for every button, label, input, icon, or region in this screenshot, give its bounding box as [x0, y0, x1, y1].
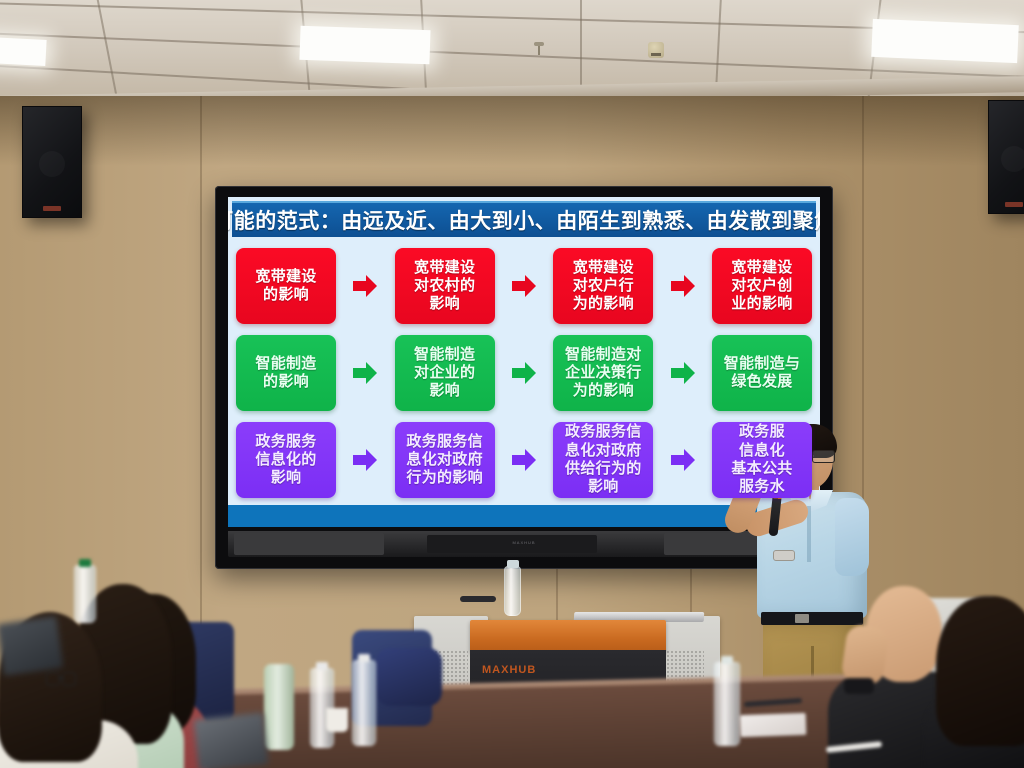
ceiling-light-panel — [299, 26, 430, 65]
flow-box[interactable]: 政务服务信 息化对政府 行为的影响 — [395, 422, 495, 498]
paper-cup[interactable] — [326, 708, 348, 732]
flow-box[interactable]: 政务服务 信息化的 影响 — [236, 422, 336, 498]
ceiling-light-panel — [871, 19, 1019, 63]
notebook[interactable] — [740, 713, 807, 737]
lecture-room-photo: 可能的范式：由远及近、由大到小、由陌生到熟悉、由发散到聚焦 宽带建设 的影响 宽… — [0, 0, 1024, 768]
water-bottle[interactable] — [74, 565, 96, 623]
wall-top-shadow — [0, 96, 1024, 166]
flow-box[interactable]: 智能制造 的影响 — [236, 335, 336, 411]
tablet-on-table[interactable] — [193, 712, 268, 768]
eyeglasses-icon — [46, 672, 76, 684]
wall-speaker-left — [22, 106, 82, 218]
flow-box[interactable]: 智能制造 对企业的 影响 — [395, 335, 495, 411]
smoke-detector — [648, 42, 664, 58]
ceiling — [0, 0, 1024, 104]
display-screen: 可能的范式：由远及近、由大到小、由陌生到熟悉、由发散到聚焦 宽带建设 的影响 宽… — [228, 197, 820, 527]
arrow-right-icon — [350, 355, 380, 391]
arrow-right-icon — [668, 268, 698, 304]
presentation-slide: 可能的范式：由远及近、由大到小、由陌生到熟悉、由发散到聚焦 宽带建设 的影响 宽… — [228, 197, 820, 527]
slide-title: 可能的范式：由远及近、由大到小、由陌生到熟悉、由发散到聚焦 — [232, 201, 816, 237]
flow-row-smart-manufacturing: 智能制造 的影响 智能制造 对企业的 影响 智能制造对 企业决策行 为的影响 智… — [236, 330, 812, 416]
chair-cushion — [376, 648, 442, 706]
lectern-desktop — [470, 620, 666, 652]
flow-box[interactable]: 智能制造对 企业决策行 为的影响 — [553, 335, 653, 411]
slide-body: 宽带建设 的影响 宽带建设 对农村的 影响 宽带建设 对农户行 为的影响 宽带建… — [228, 237, 820, 527]
flow-box[interactable]: 政务服 信息化 基本公共 服务水 — [712, 422, 812, 498]
flow-box[interactable]: 智能制造与 绿色发展 — [712, 335, 812, 411]
water-bottle[interactable] — [714, 662, 740, 746]
flow-box[interactable]: 宽带建设 的影响 — [236, 248, 336, 324]
water-bottle[interactable] — [504, 566, 521, 616]
laptop-left[interactable] — [0, 616, 63, 676]
presenter-wristwatch — [773, 550, 795, 561]
thermos-bottle[interactable] — [264, 664, 294, 750]
attendee-wristwatch — [844, 678, 874, 694]
arrow-right-icon — [668, 355, 698, 391]
arrow-right-icon — [509, 355, 539, 391]
lectern-brand-label: MAXHUB — [482, 664, 536, 676]
lectern-remote[interactable] — [460, 596, 496, 602]
sprinkler-head — [534, 42, 544, 55]
display-bottom-bezel: MAXHUB — [228, 531, 820, 557]
flow-box[interactable]: 宽带建设 对农村的 影响 — [395, 248, 495, 324]
arrow-right-icon — [509, 442, 539, 478]
arrow-right-icon — [350, 268, 380, 304]
flow-row-government-services: 政务服务 信息化的 影响 政务服务信 息化对政府 行为的影响 政务服务信 息化对… — [236, 417, 812, 503]
wall-speaker-right — [988, 100, 1024, 214]
presenter-right-sleeve — [835, 498, 869, 576]
water-bottle[interactable] — [352, 660, 376, 746]
flow-row-broadband: 宽带建设 的影响 宽带建设 对农村的 影响 宽带建设 对农户行 为的影响 宽带建… — [236, 243, 812, 329]
flow-box[interactable]: 政务服务信 息化对政府 供给行为的 影响 — [553, 422, 653, 498]
ceiling-light-panel — [0, 36, 47, 66]
arrow-right-icon — [668, 442, 698, 478]
display-brand-label: MAXHUB — [512, 540, 535, 545]
flow-box[interactable]: 宽带建设 对农户行 为的影响 — [553, 248, 653, 324]
arrow-right-icon — [509, 268, 539, 304]
attendee-hair — [936, 596, 1024, 746]
attendee-far-right — [930, 596, 1024, 768]
flow-box[interactable]: 宽带建设 对农户创 业的影响 — [712, 248, 812, 324]
arrow-right-icon — [350, 442, 380, 478]
